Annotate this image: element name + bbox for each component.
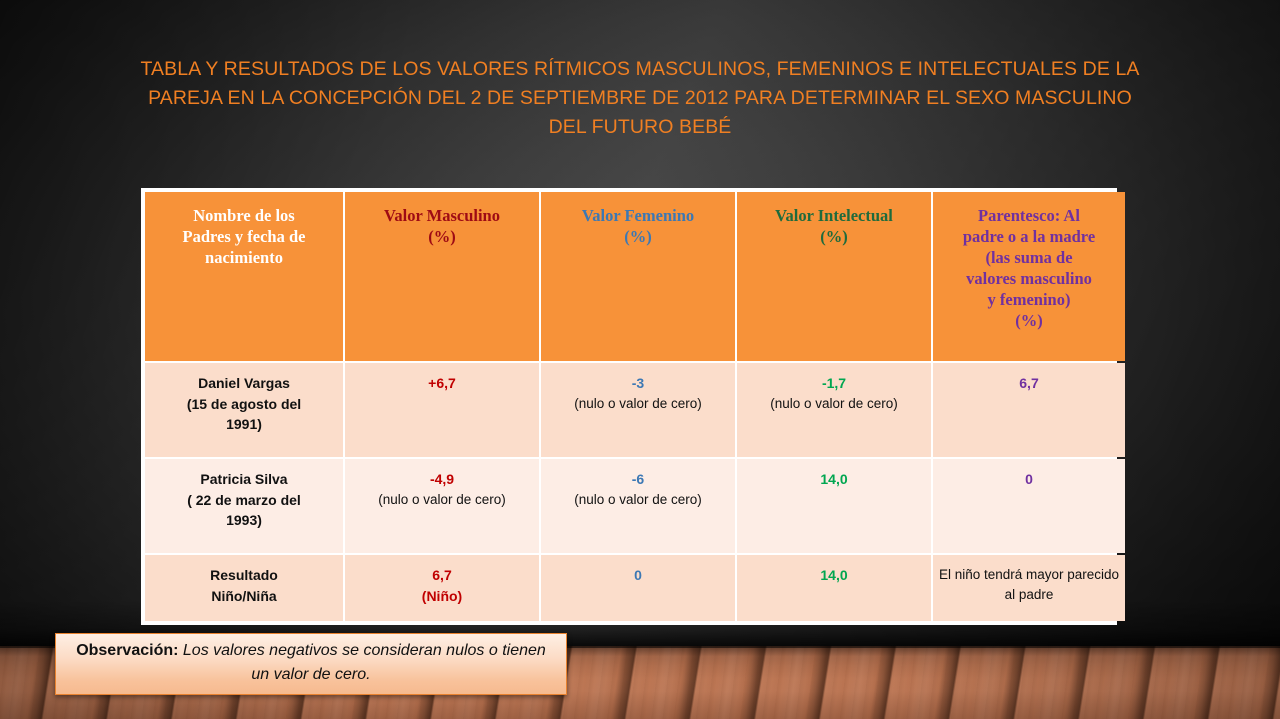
- cell-valor-masculino: 6,7 (Niño): [345, 555, 539, 621]
- name-line: 1993): [150, 510, 338, 531]
- column-header-valor-femenino: Valor Femenino (%): [541, 192, 735, 361]
- cell-nombre: Resultado Niño/Niña: [145, 555, 343, 621]
- name-line: Resultado: [150, 565, 338, 586]
- value-masculino: -4,9: [350, 469, 534, 490]
- cell-parentesco: El niño tendrá mayor parecido al padre: [933, 555, 1125, 621]
- value-parentesco: 0: [938, 469, 1120, 490]
- value-masculino: 6,7: [350, 565, 534, 586]
- cell-valor-femenino: -6 (nulo o valor de cero): [541, 459, 735, 553]
- header-line: Valor Femenino: [546, 205, 730, 226]
- column-header-parentesco: Parentesco: Al padre o a la madre (las s…: [933, 192, 1125, 361]
- table-header: Nombre de los Padres y fecha de nacimien…: [145, 192, 1125, 361]
- header-line: nacimiento: [150, 247, 338, 268]
- results-table: Nombre de los Padres y fecha de nacimien…: [143, 190, 1127, 623]
- value-masculino: +6,7: [350, 373, 534, 394]
- table-header-row: Nombre de los Padres y fecha de nacimien…: [145, 192, 1125, 361]
- name-line: (15 de agosto del: [150, 394, 338, 415]
- header-line: padre o a la madre: [938, 226, 1120, 247]
- header-line: Padres y fecha de: [150, 226, 338, 247]
- slide-title: TABLA Y RESULTADOS DE LOS VALORES RÍTMIC…: [130, 55, 1150, 142]
- note-masculino: (Niño): [350, 586, 534, 607]
- observation-callout: Observación: Los valores negativos se co…: [55, 633, 567, 695]
- column-header-nombre: Nombre de los Padres y fecha de nacimien…: [145, 192, 343, 361]
- column-header-valor-intelectual: Valor Intelectual (%): [737, 192, 931, 361]
- name-line: 1991): [150, 414, 338, 435]
- header-line: Nombre de los: [150, 205, 338, 226]
- observation-line-1: Los valores negativos se consideran nulo…: [183, 642, 485, 659]
- cell-nombre: Patricia Silva ( 22 de marzo del 1993): [145, 459, 343, 553]
- cell-parentesco: 0: [933, 459, 1125, 553]
- note-intelectual: (nulo o valor de cero): [742, 394, 926, 415]
- header-line: Parentesco: Al: [938, 205, 1120, 226]
- header-line: (%): [350, 226, 534, 247]
- cell-valor-intelectual: 14,0: [737, 555, 931, 621]
- value-intelectual: 14,0: [742, 565, 926, 586]
- note-femenino: (nulo o valor de cero): [546, 490, 730, 511]
- table-body: Daniel Vargas (15 de agosto del 1991) +6…: [145, 363, 1125, 621]
- value-parentesco: 6,7: [938, 373, 1120, 394]
- cell-valor-masculino: +6,7: [345, 363, 539, 457]
- header-line: Valor Intelectual: [742, 205, 926, 226]
- note-parentesco: El niño tendrá mayor parecido al padre: [938, 565, 1120, 605]
- note-femenino: (nulo o valor de cero): [546, 394, 730, 415]
- observation-label: Observación:: [76, 642, 178, 659]
- value-femenino: 0: [546, 565, 730, 586]
- cell-nombre: Daniel Vargas (15 de agosto del 1991): [145, 363, 343, 457]
- cell-valor-masculino: -4,9 (nulo o valor de cero): [345, 459, 539, 553]
- header-line: Valor Masculino: [350, 205, 534, 226]
- results-table-container: Nombre de los Padres y fecha de nacimien…: [141, 188, 1117, 625]
- header-line: (%): [546, 226, 730, 247]
- table-row: Patricia Silva ( 22 de marzo del 1993) -…: [145, 459, 1125, 553]
- column-header-valor-masculino: Valor Masculino (%): [345, 192, 539, 361]
- value-femenino: -3: [546, 373, 730, 394]
- value-femenino: -6: [546, 469, 730, 490]
- cell-parentesco: 6,7: [933, 363, 1125, 457]
- cell-valor-femenino: 0: [541, 555, 735, 621]
- header-line: y femenino): [938, 289, 1120, 310]
- slide-canvas: TABLA Y RESULTADOS DE LOS VALORES RÍTMIC…: [0, 0, 1280, 719]
- header-line: (%): [742, 226, 926, 247]
- header-line: valores masculino: [938, 268, 1120, 289]
- cell-valor-intelectual: 14,0: [737, 459, 931, 553]
- observation-text: Observación: Los valores negativos se co…: [68, 639, 554, 687]
- value-intelectual: 14,0: [742, 469, 926, 490]
- note-masculino: (nulo o valor de cero): [350, 490, 534, 511]
- name-line: Patricia Silva: [150, 469, 338, 490]
- table-row: Daniel Vargas (15 de agosto del 1991) +6…: [145, 363, 1125, 457]
- name-line: Niño/Niña: [150, 586, 338, 607]
- value-intelectual: -1,7: [742, 373, 926, 394]
- cell-valor-intelectual: -1,7 (nulo o valor de cero): [737, 363, 931, 457]
- header-line: (las suma de: [938, 247, 1120, 268]
- name-line: ( 22 de marzo del: [150, 490, 338, 511]
- table-row: Resultado Niño/Niña 6,7 (Niño) 0 14,0 El: [145, 555, 1125, 621]
- header-line: (%): [938, 310, 1120, 331]
- name-line: Daniel Vargas: [150, 373, 338, 394]
- cell-valor-femenino: -3 (nulo o valor de cero): [541, 363, 735, 457]
